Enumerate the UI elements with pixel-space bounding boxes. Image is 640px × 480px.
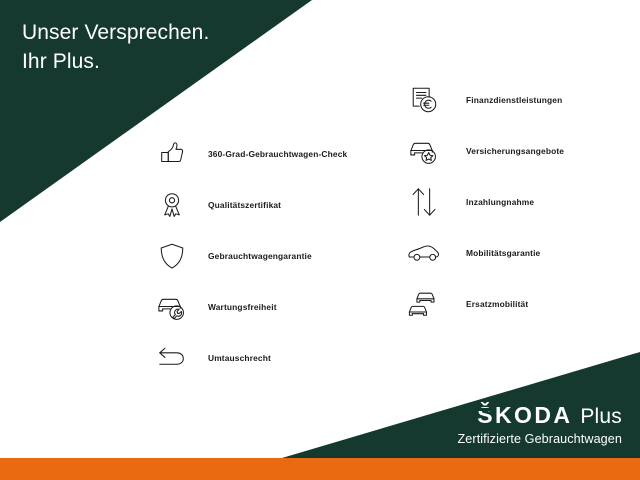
feature-item-trade-in: Inzahlungnahme (400, 176, 564, 227)
feature-item-insurance: Versicherungsangebote (400, 125, 564, 176)
feature-label: Umtauschrecht (208, 353, 271, 363)
feature-label: Mobilitätsgarantie (466, 248, 540, 258)
up-down-arrows-icon (400, 181, 448, 223)
brand-name: ŠKODA (477, 404, 572, 427)
feature-label: Gebrauchtwagengarantie (208, 251, 312, 261)
promo-banner: Unser Versprechen. Ihr Plus. 360-Grad-Ge… (0, 0, 640, 480)
brand-suffix: Plus (580, 406, 622, 427)
feature-list-left: 360-Grad-Gebrauchtwagen-Check Qualitätsz… (148, 128, 347, 383)
car-star-icon (400, 130, 448, 172)
feature-item-mobility-guarantee: Mobilitätsgarantie (400, 227, 564, 278)
u-turn-arrow-icon (148, 337, 196, 379)
feature-item-360-check: 360-Grad-Gebrauchtwagen-Check (148, 128, 347, 179)
thumbs-up-icon (148, 133, 196, 175)
feature-item-financial-services: Finanzdienstleistungen (400, 74, 564, 125)
feature-label: Inzahlungnahme (466, 197, 534, 207)
feature-item-return-right: Umtauschrecht (148, 332, 347, 383)
two-cars-icon (400, 283, 448, 325)
brand-lockup: ŠKODA Plus Zertifizierte Gebrauchtwagen (458, 404, 623, 446)
feature-item-quality-certificate: Qualitätszertifikat (148, 179, 347, 230)
headline-line-1: Unser Versprechen. (22, 18, 209, 47)
brand-wordmark: ŠKODA Plus (458, 404, 623, 427)
document-euro-icon (400, 79, 448, 121)
feature-label: Versicherungsangebote (466, 146, 564, 156)
feature-label: 360-Grad-Gebrauchtwagen-Check (208, 149, 347, 159)
feature-label: Finanzdienstleistungen (466, 95, 562, 105)
award-rosette-icon (148, 184, 196, 226)
feature-label: Qualitätszertifikat (208, 200, 281, 210)
brand-subtitle: Zertifizierte Gebrauchtwagen (458, 433, 623, 446)
car-side-icon (400, 232, 448, 274)
feature-item-maintenance: Wartungsfreiheit (148, 281, 347, 332)
orange-footer-bar (0, 458, 640, 480)
feature-label: Ersatzmobilität (466, 299, 528, 309)
headline-line-2: Ihr Plus. (22, 47, 209, 76)
car-wrench-icon (148, 286, 196, 328)
feature-label: Wartungsfreiheit (208, 302, 277, 312)
feature-item-replacement-mobility: Ersatzmobilität (400, 278, 564, 329)
shield-icon (148, 235, 196, 277)
feature-list-right: Finanzdienstleistungen Versicherungsange… (400, 74, 564, 329)
feature-item-warranty: Gebrauchtwagengarantie (148, 230, 347, 281)
headline: Unser Versprechen. Ihr Plus. (22, 18, 209, 76)
